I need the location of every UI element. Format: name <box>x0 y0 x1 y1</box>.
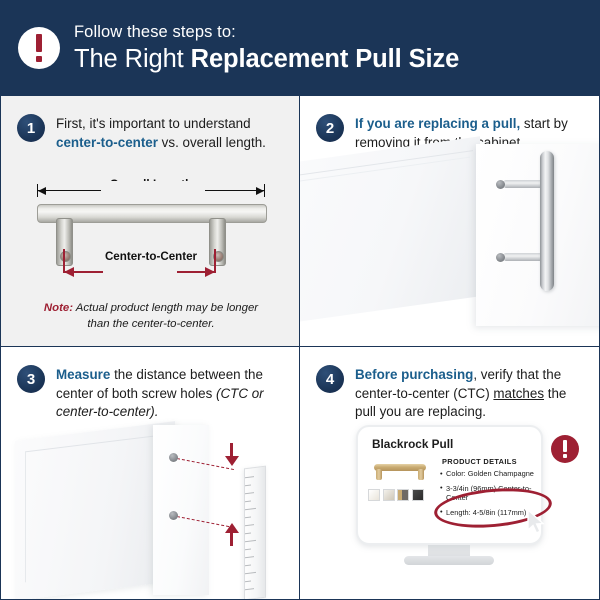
ruler-tick <box>245 476 254 478</box>
screw-hole-top <box>169 453 178 462</box>
ruler-tick <box>245 492 254 494</box>
label-gap-mask <box>101 181 205 199</box>
ruler-tick <box>245 564 251 566</box>
screw-hole-bottom <box>169 511 178 520</box>
ruler-tick <box>245 540 256 543</box>
title-bold: Replacement Pull Size <box>191 45 460 73</box>
step-1-tail: vs. overall length. <box>158 135 266 150</box>
ctc-dimension-line <box>63 271 216 272</box>
right-arrowhead-icon <box>256 187 264 195</box>
product-thumbnail[interactable] <box>368 489 380 501</box>
product-thumbnail[interactable] <box>397 489 409 501</box>
diagram-note: Note: Actual product length may be longe… <box>1 300 300 332</box>
step-3-text: Measure the distance between the center … <box>56 365 285 422</box>
step-panel-2: 2 If you are replacing a pull, start by … <box>299 95 600 347</box>
product-thumbnail-strip[interactable] <box>368 489 424 501</box>
ctc-label-gap-mask <box>103 262 177 280</box>
exclamation-circle-icon <box>18 27 60 69</box>
ruler-tick <box>245 580 251 582</box>
measure-arrow-down-icon <box>225 456 239 466</box>
step-4-text: Before purchasing, verify that the cente… <box>355 365 585 422</box>
pull-measurement-diagram: Overall Length Center-to-Center <box>1 178 300 347</box>
header-kicker: Follow these steps to: <box>74 22 459 42</box>
step-3-emphasis: Measure <box>56 367 110 382</box>
step-2-number-badge: 2 <box>316 114 344 142</box>
step-panel-1: 1 First, it's important to understand ce… <box>0 95 300 347</box>
bar-pull-handle <box>540 151 554 291</box>
ruler-tick <box>245 508 256 511</box>
ruler-tick <box>245 516 251 518</box>
product-title: Blackrock Pull <box>372 437 453 451</box>
ruler-tick <box>245 532 251 534</box>
ruler <box>244 466 266 600</box>
product-pull-leg-left <box>376 469 382 480</box>
cabinet-door-front-face <box>476 144 600 326</box>
measure-arrow-up-icon <box>225 523 239 533</box>
product-thumbnail[interactable] <box>412 489 424 501</box>
note-body: Actual product length may be longer than… <box>73 302 258 330</box>
product-image <box>370 458 430 484</box>
step-4-header: 4 Before purchasing, verify that the cen… <box>300 347 599 422</box>
overall-length-dimension-line <box>37 190 265 191</box>
step-1-number-badge: 1 <box>17 114 45 142</box>
header-text-group: Follow these steps to: The Right Replace… <box>74 22 459 74</box>
ctc-right-arrowhead-icon <box>205 267 215 277</box>
step-4-underlined: matches <box>493 386 544 401</box>
monitor-screen: Blackrock Pull PRODUCT DETAILS Color: Go… <box>356 425 543 545</box>
screw-hole-top <box>496 180 505 189</box>
product-pull-leg-right <box>418 469 424 480</box>
monitor-stand-base <box>404 556 494 565</box>
step-1-lead: First, it's important to understand <box>56 116 251 131</box>
steps-grid: 1 First, it's important to understand ce… <box>0 95 600 600</box>
ctc-left-arrowhead-icon <box>64 267 74 277</box>
step-panel-4: Blackrock Pull PRODUCT DETAILS Color: Go… <box>299 346 600 600</box>
cabinet-door-edge-face <box>153 425 209 595</box>
page-title: The Right Replacement Pull Size <box>74 44 459 74</box>
ruler-tick <box>245 524 254 526</box>
ruler-tick <box>245 588 254 590</box>
step-3-header: 3 Measure the distance between the cente… <box>1 347 299 422</box>
screw-hole-bottom <box>496 253 505 262</box>
step-1-header: 1 First, it's important to understand ce… <box>1 96 299 152</box>
measure-arrow-stem-up <box>230 532 233 546</box>
product-thumbnail[interactable] <box>383 489 395 501</box>
ruler-tick <box>245 572 256 575</box>
step-1-text: First, it's important to understand cent… <box>56 114 285 152</box>
product-detail-color: Color: Golden Champagne <box>440 469 538 479</box>
left-arrowhead-icon <box>38 187 46 195</box>
ruler-tick <box>245 548 251 550</box>
infographic-page: Follow these steps to: The Right Replace… <box>0 0 600 600</box>
header-banner: Follow these steps to: The Right Replace… <box>0 0 600 95</box>
step-3-number-badge: 3 <box>17 365 45 393</box>
title-light: The Right <box>74 45 191 73</box>
step-4-emphasis: Before purchasing <box>355 367 473 382</box>
step-2-emphasis: If you are replacing a pull, <box>355 116 520 131</box>
step-panel-3: 3 Measure the distance between the cente… <box>0 346 300 600</box>
product-details-heading: PRODUCT DETAILS <box>442 457 517 466</box>
exclamation-mark-glyph <box>36 34 42 62</box>
ruler-tick <box>245 500 251 502</box>
mouse-cursor-icon <box>526 509 548 535</box>
step-4-number-badge: 4 <box>316 365 344 393</box>
exclamation-circle-icon <box>551 435 579 463</box>
note-label: Note: <box>44 302 73 314</box>
ruler-tick <box>245 556 254 558</box>
exclamation-mark-glyph <box>563 440 567 458</box>
ruler-tick <box>245 484 251 486</box>
step-1-emphasis: center-to-center <box>56 135 158 150</box>
measure-arrow-stem-down <box>230 443 233 457</box>
cabinet-door-side-inner-edge <box>25 435 162 583</box>
